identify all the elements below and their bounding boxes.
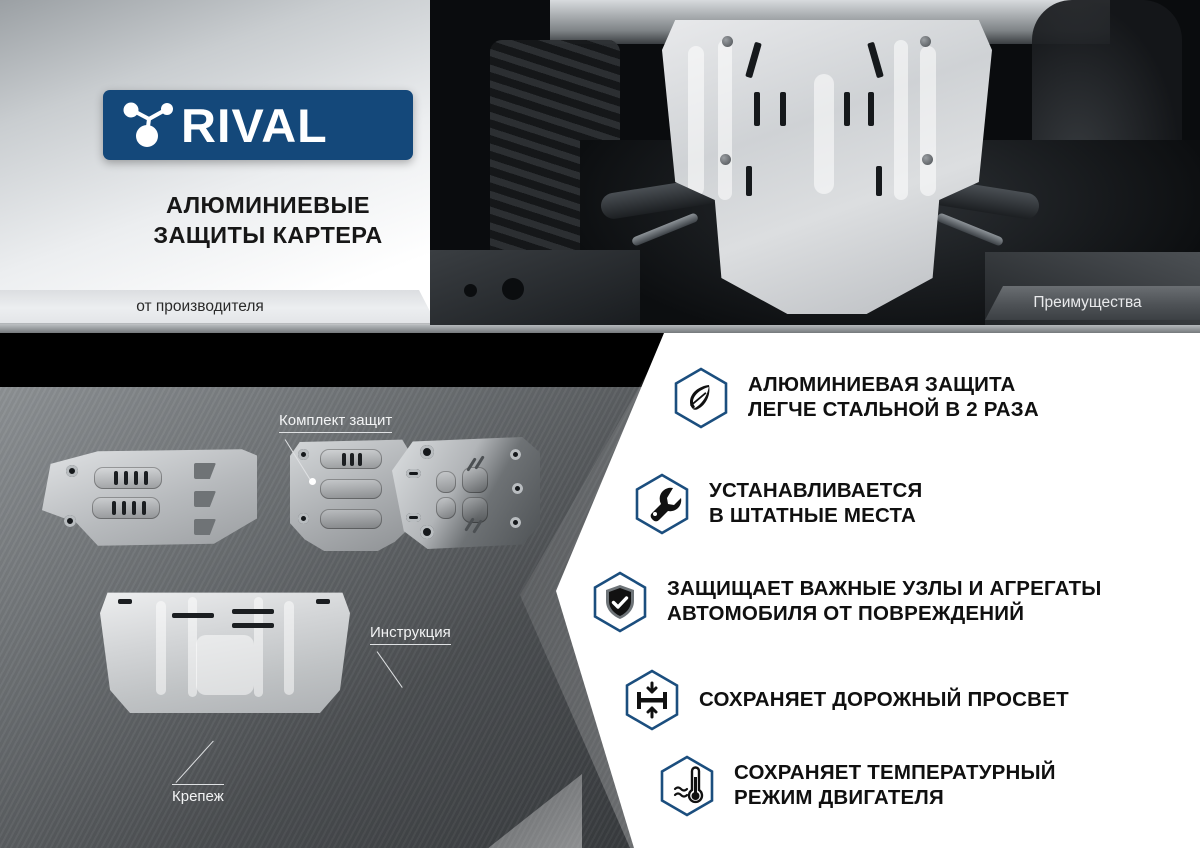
benefit-text-5: СОХРАНЯЕТ ТЕМПЕРАТУРНЫЙ РЕЖИМ ДВИГАТЕЛЯ	[734, 761, 1056, 810]
rival-logo: RIVAL	[103, 90, 413, 160]
benefit-text-3: ЗАЩИЩАЕТ ВАЖНЫЕ УЗЛЫ И АГРЕГАТЫ АВТОМОБИ…	[667, 577, 1102, 626]
benefit-text-4: СОХРАНЯЕТ ДОРОЖНЫЙ ПРОСВЕТ	[699, 688, 1069, 713]
benefit-text-1: АЛЮМИНИЕВАЯ ЗАЩИТА ЛЕГЧЕ СТАЛЬНОЙ В 2 РА…	[748, 373, 1039, 422]
benefit-2-line-2: В ШТАТНЫЕ МЕСТА	[709, 504, 922, 529]
shield-check-icon	[592, 571, 648, 633]
wrench-icon	[634, 473, 690, 535]
ground-clearance-icon	[624, 669, 680, 731]
callout-kit: Комплект защит	[279, 412, 392, 433]
promo-banner: RIVAL АЛЮМИНИЕВЫЕ ЗАЩИТЫ КАРТЕРА от прои…	[0, 0, 1200, 848]
headline-line-1: АЛЮМИНИЕВЫЕ	[103, 190, 433, 220]
benefit-3-line-2: АВТОМОБИЛЯ ОТ ПОВРЕЖДЕНИЙ	[667, 602, 1102, 627]
benefit-text-2: УСТАНАВЛИВАЕТСЯ В ШТАТНЫЕ МЕСТА	[709, 479, 922, 528]
benefit-item-1: АЛЮМИНИЕВАЯ ЗАЩИТА ЛЕГЧЕ СТАЛЬНОЙ В 2 РА…	[673, 367, 1039, 429]
benefit-3-line-1: ЗАЩИЩАЕТ ВАЖНЫЕ УЗЛЫ И АГРЕГАТЫ	[667, 577, 1102, 602]
skid-plate-4-main	[100, 585, 350, 713]
benefit-1-line-1: АЛЮМИНИЕВАЯ ЗАЩИТА	[748, 373, 1039, 398]
page-title: АЛЮМИНИЕВЫЕ ЗАЩИТЫ КАРТЕРА	[103, 190, 433, 250]
benefit-5-line-1: СОХРАНЯЕТ ТЕМПЕРАТУРНЫЙ	[734, 761, 1056, 786]
logo-wordmark: RIVAL	[181, 102, 328, 149]
subtitle-band: от производителя	[0, 290, 436, 323]
callout-hardware: Крепеж	[172, 784, 224, 805]
thermometer-icon	[659, 755, 715, 817]
benefit-item-5: СОХРАНЯЕТ ТЕМПЕРАТУРНЫЙ РЕЖИМ ДВИГАТЕЛЯ	[659, 755, 1056, 817]
skid-plate-1	[42, 445, 257, 550]
benefits-list: АЛЮМИНИЕВАЯ ЗАЩИТА ЛЕГЧЕ СТАЛЬНОЙ В 2 РА…	[556, 333, 1200, 848]
callout-instruction: Инструкция	[370, 624, 451, 645]
photo-light-wedge-top	[392, 774, 582, 848]
benefit-5-line-2: РЕЖИМ ДВИГАТЕЛЯ	[734, 786, 1056, 811]
benefit-item-4: СОХРАНЯЕТ ДОРОЖНЫЙ ПРОСВЕТ	[624, 669, 1069, 731]
headline-line-2: ЗАЩИТЫ КАРТЕРА	[103, 220, 433, 250]
advantages-ribbon: Преимущества	[985, 286, 1200, 320]
callout-kit-dot	[309, 478, 316, 485]
benefit-2-line-1: УСТАНАВЛИВАЕТСЯ	[709, 479, 922, 504]
benefit-item-2: УСТАНАВЛИВАЕТСЯ В ШТАТНЫЕ МЕСТА	[634, 473, 922, 535]
benefits-panel: АЛЮМИНИЕВАЯ ЗАЩИТА ЛЕГЧЕ СТАЛЬНОЙ В 2 РА…	[556, 333, 1200, 848]
benefit-1-line-2: ЛЕГЧЕ СТАЛЬНОЙ В 2 РАЗА	[748, 398, 1039, 423]
subtitle-text: от производителя	[0, 290, 400, 323]
molecule-icon	[119, 99, 177, 151]
benefit-4-line-1: СОХРАНЯЕТ ДОРОЖНЫЙ ПРОСВЕТ	[699, 688, 1069, 713]
skid-plate-3	[392, 437, 540, 549]
leaf-icon	[673, 367, 729, 429]
benefit-item-3: ЗАЩИЩАЕТ ВАЖНЫЕ УЗЛЫ И АГРЕГАТЫ АВТОМОБИ…	[592, 571, 1102, 633]
advantages-ribbon-label: Преимущества	[985, 286, 1190, 320]
